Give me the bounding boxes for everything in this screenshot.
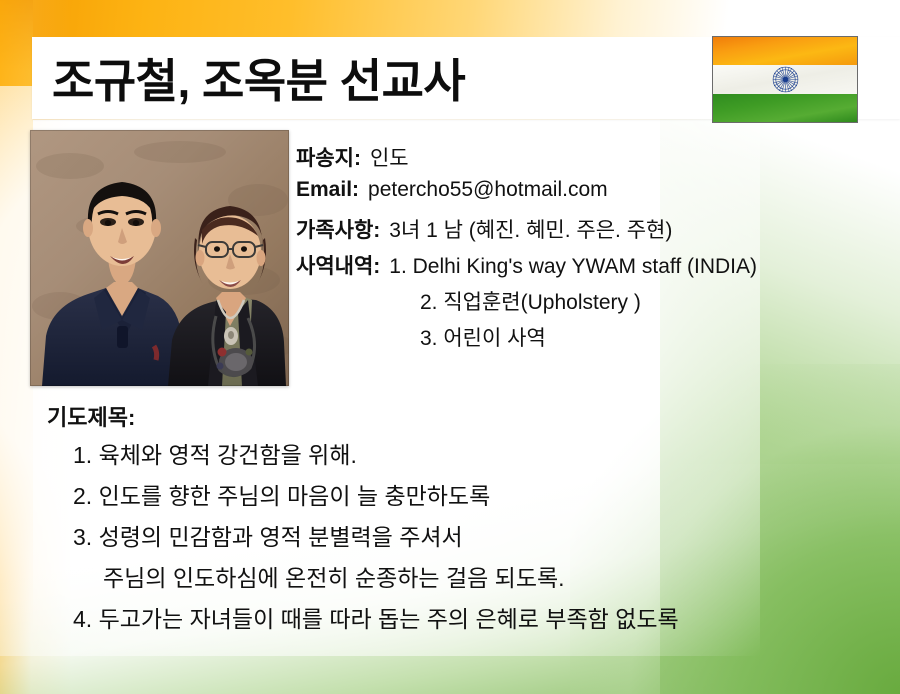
info-row-email: Email: petercho55@hotmail.com: [296, 178, 896, 214]
prayer-item: 3. 성령의 민감함과 영적 분별력을 주셔서: [47, 518, 877, 559]
info-label-ministry: 사역내역:: [296, 250, 380, 280]
flag-band-green: [713, 94, 857, 122]
info-label-destination: 파송지:: [296, 142, 361, 172]
info-value-ministry: 1. Delhi King's way YWAM staff (INDIA): [389, 255, 757, 279]
flag-band-saffron: [713, 37, 857, 65]
photo-illustration: [30, 130, 289, 386]
prayer-item: 4. 두고가는 자녀들이 때를 따라 돕는 주의 은혜로 부족함 없도록: [47, 600, 877, 641]
prayer-item-continuation: 주님의 인도하심에 온전히 순종하는 걸음 되도록.: [47, 559, 877, 600]
prayer-heading: 기도제목:: [47, 400, 877, 436]
info-row-family: 가족사항: 3녀 1 남 (혜진. 혜민. 주은. 주현): [296, 214, 896, 250]
prayer-item: 2. 인도를 향한 주님의 마음이 늘 충만하도록: [47, 477, 877, 518]
info-row-destination: 파송지: 인도: [296, 142, 896, 178]
info-value-email: petercho55@hotmail.com: [368, 178, 608, 202]
info-row-ministry: 사역내역: 1. Delhi King's way YWAM staff (IN…: [296, 250, 896, 286]
missionary-info-block: 파송지: 인도 Email: petercho55@hotmail.com 가족…: [296, 142, 896, 358]
prayer-requests-block: 기도제목: 1. 육체와 영적 강건함을 위해. 2. 인도를 향한 주님의 마…: [47, 400, 877, 641]
info-value-family: 3녀 1 남 (혜진. 혜민. 주은. 주현): [389, 214, 672, 244]
ashoka-chakra-icon: [772, 66, 799, 93]
info-value-destination: 인도: [370, 142, 409, 172]
presentation-slide: 조규철, 조옥분 선교사: [0, 0, 900, 694]
page-title: 조규철, 조옥분 선교사: [52, 36, 712, 120]
ministry-sub-item: 3. 어린이 사역: [296, 322, 896, 358]
prayer-item: 1. 육체와 영적 강건함을 위해.: [47, 436, 877, 477]
info-label-family: 가족사항:: [296, 214, 380, 244]
india-flag-icon: [712, 36, 858, 123]
missionary-couple-photo: [30, 130, 289, 386]
info-label-email: Email:: [296, 178, 359, 202]
ministry-sub-item: 2. 직업훈련(Upholstery ): [296, 286, 896, 322]
